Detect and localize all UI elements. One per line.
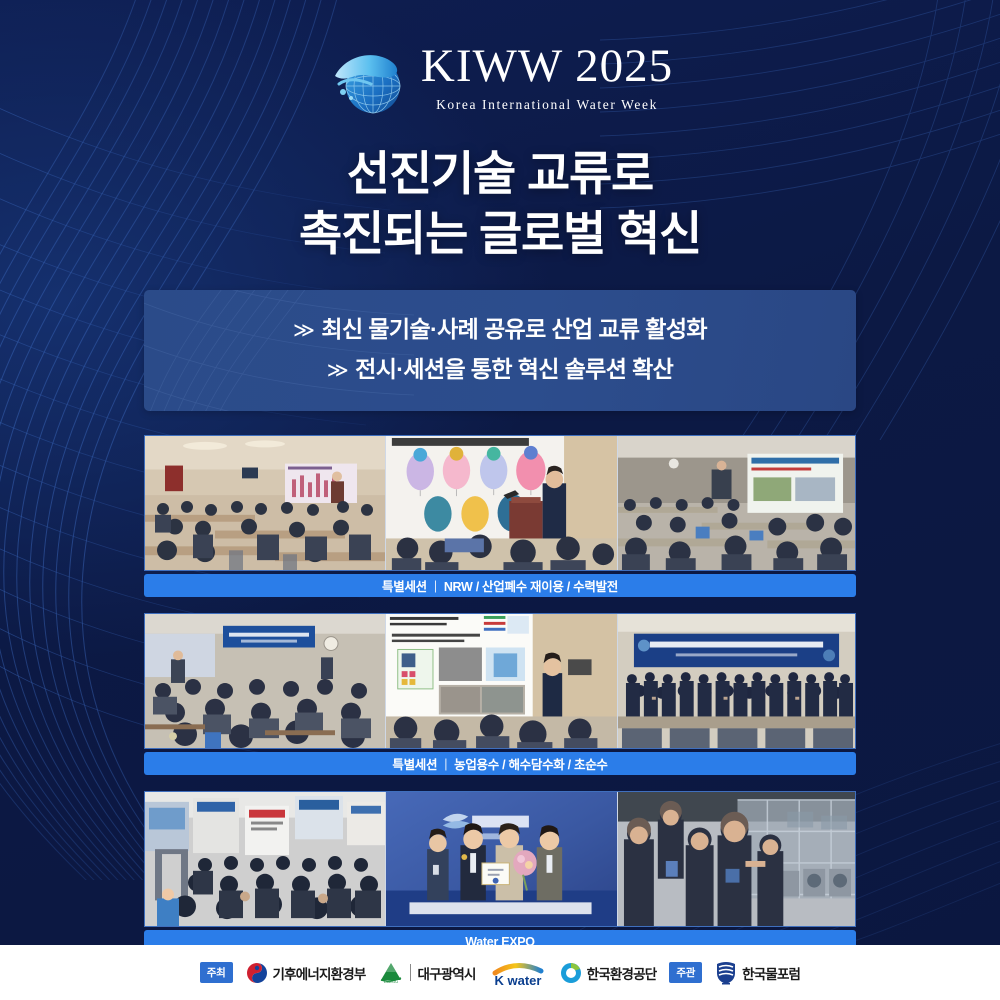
daegu-sub-label: DAEGU: [383, 979, 397, 984]
photo-row-3: Water EXPO: [144, 791, 856, 953]
keco-ring-icon: [560, 962, 582, 984]
photo-exhibition-hall-booths: [145, 792, 385, 926]
photo-row-3-images: [144, 791, 856, 927]
caption-2-separator: |: [444, 757, 447, 771]
host-badge: 주최: [200, 962, 233, 983]
sponsor-divider: [410, 964, 411, 981]
title-line-2: 촉진되는 글로벌 혁신: [0, 204, 1000, 264]
photo-presentation-semiconductor-slide: [385, 436, 617, 570]
title-line-1: 선진기술 교류로: [0, 144, 1000, 204]
korea-government-taegeuk-icon: [246, 962, 268, 984]
organizer-badge: 주관: [669, 962, 702, 983]
sponsor-daegu: DAEGU 대구광역시: [379, 962, 476, 984]
chevron-right-icon-2: ≫: [327, 359, 348, 382]
sponsor-water-forum: 한국물포럼: [715, 960, 800, 986]
caption-1-prefix: 특별세션: [382, 576, 427, 595]
photo-row-1: 특별세션 | NRW / 산업폐수 재이용 / 수력발전: [144, 435, 856, 597]
page-title: 선진기술 교류로 촉진되는 글로벌 혁신: [0, 144, 1000, 264]
subtitle-text-1: 최신 물기술·사례 공유로 산업 교류 활성화: [321, 316, 707, 342]
sponsor-water-forum-label: 한국물포럼: [742, 963, 800, 983]
photo-row-1-caption: 특별세션 | NRW / 산업폐수 재이용 / 수력발전: [144, 574, 856, 597]
sponsor-keco-label: 한국환경공단: [587, 963, 657, 983]
sponsor-kwater: K water: [489, 960, 547, 986]
photo-row-1-images: [144, 435, 856, 571]
chevron-right-icon: ≫: [293, 319, 314, 342]
sponsor-keco: 한국환경공단: [560, 962, 657, 984]
sponsor-ministry: 기후에너지환경부: [246, 962, 366, 984]
photo-speaker-podium-slide: [385, 614, 617, 748]
water-globe-icon: [327, 36, 411, 120]
subtitle-line-1: ≫최신 물기술·사례 공유로 산업 교류 활성화: [144, 310, 856, 350]
subtitle-panel: ≫최신 물기술·사례 공유로 산업 교류 활성화 ≫전시·세션을 통한 혁신 솔…: [144, 290, 856, 411]
caption-2-prefix: 특별세션: [392, 754, 437, 773]
photo-row-2-images: [144, 613, 856, 749]
sponsor-daegu-label: 대구광역시: [418, 963, 476, 983]
footer-sponsors: 주최 기후에너지환경부 DAEGU 대구광역시: [0, 945, 1000, 1000]
logo-main-text: KIWW 2025: [421, 43, 673, 90]
water-forum-icon: [715, 960, 737, 986]
caption-2-topics: 농업용수 / 해수담수화 / 초순수: [454, 754, 607, 773]
sponsor-ministry-label: 기후에너지환경부: [273, 963, 366, 983]
photo-row-2: 특별세션 | 농업용수 / 해수담수화 / 초순수: [144, 613, 856, 775]
photo-row-2-caption: 특별세션 | 농업용수 / 해수담수화 / 초순수: [144, 752, 856, 775]
logo-sub-text: Korea International Water Week: [436, 97, 658, 113]
kiww-logo: KIWW 2025 Korea International Water Week: [0, 0, 1000, 130]
photo-rows: 특별세션 | NRW / 산업폐수 재이용 / 수력발전: [0, 435, 1000, 953]
subtitle-line-2: ≫전시·세션을 통한 혁신 솔루션 확산: [144, 350, 856, 390]
photo-conference-hall-audience: [145, 436, 385, 570]
photo-award-ceremony-bluedot: [385, 792, 617, 926]
caption-1-topics: NRW / 산업폐수 재이용 / 수력발전: [444, 576, 618, 595]
kwater-arc-icon: K water: [489, 960, 547, 986]
caption-1-separator: |: [434, 579, 437, 593]
photo-session-banner-audience: [145, 614, 385, 748]
daegu-city-icon: DAEGU: [379, 962, 403, 984]
photo-group-photo-upw-banner: [617, 614, 855, 748]
photo-seminar-room-screen: [617, 436, 855, 570]
photo-technology-demo-visitors: [617, 792, 855, 926]
kwater-wordmark: K water: [494, 973, 541, 986]
subtitle-text-2: 전시·세션을 통한 혁신 솔루션 확산: [355, 356, 673, 382]
